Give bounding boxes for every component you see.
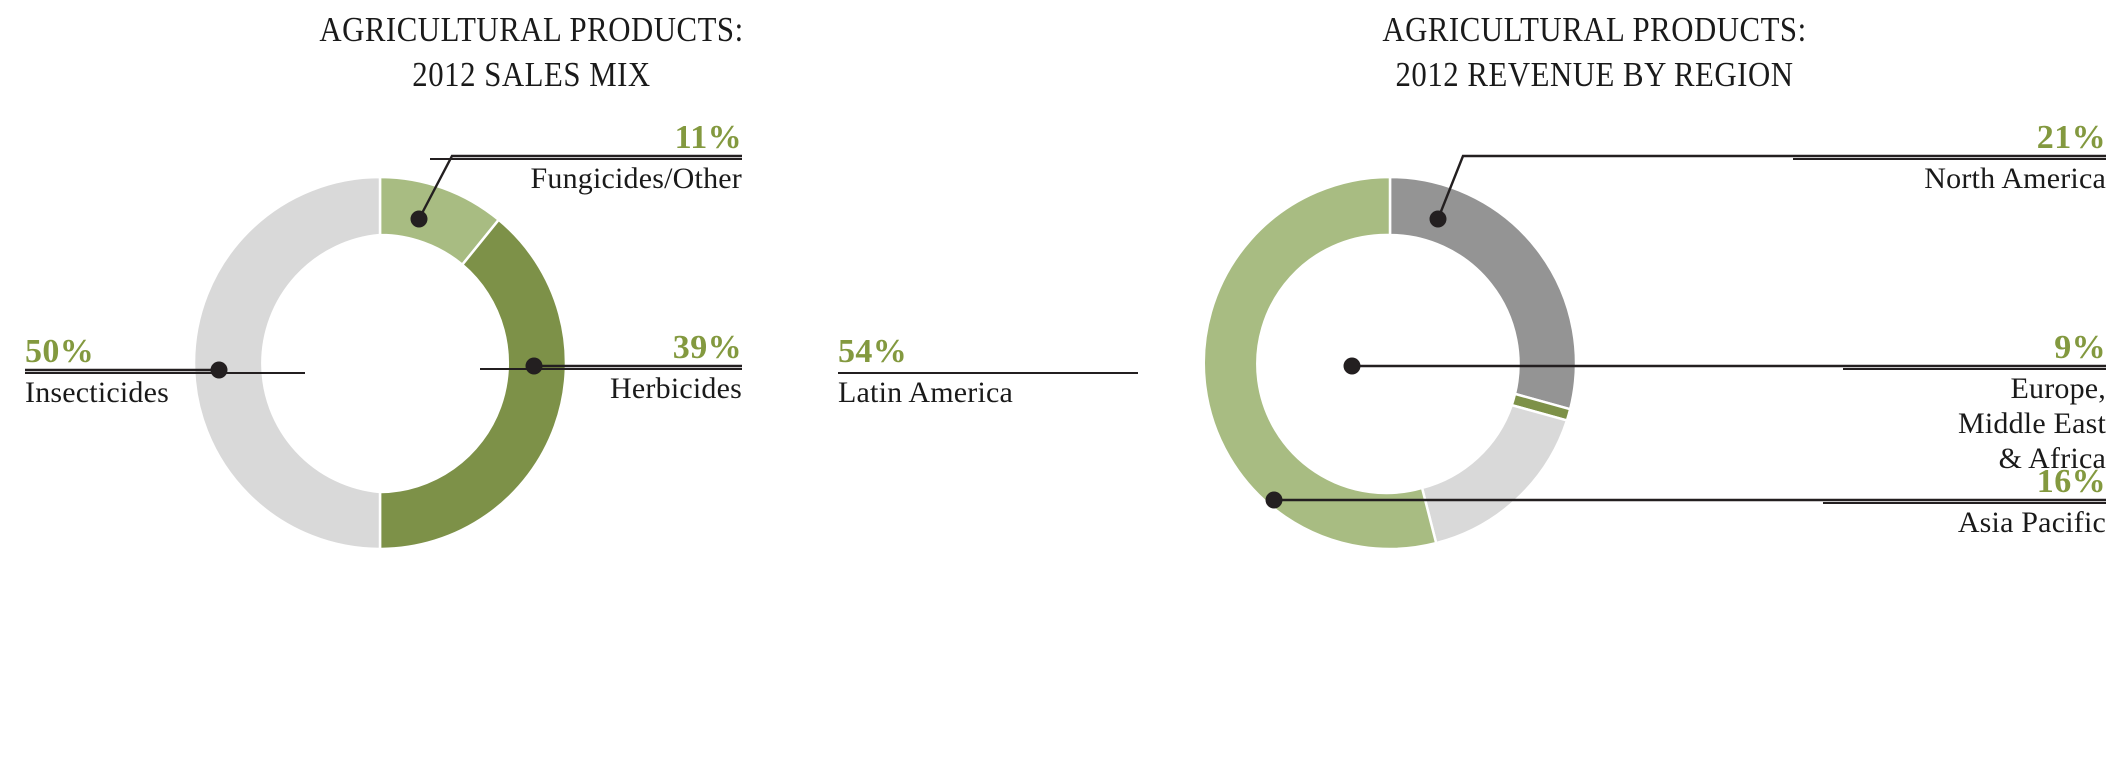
donut-segments-revenue-by-region <box>1204 177 1576 549</box>
callout-rule-asia-pacific <box>1823 502 2106 504</box>
callout-north-america: 21% North America <box>1793 120 2106 196</box>
callout-herbicides: 39% Herbicides <box>480 330 742 406</box>
callout-percent-herbicides: 39% <box>480 330 742 366</box>
leader-dot-fungicides <box>411 211 428 228</box>
chart-title-line-1: AGRICULTURAL PRODUCTS: <box>64 8 999 53</box>
callout-name-insecticides: Insecticides <box>25 375 305 410</box>
callout-name-asia-pacific: Asia Pacific <box>1823 505 2106 540</box>
callout-percent-asia-pacific: 16% <box>1823 464 2106 500</box>
callout-percent-insecticides: 50% <box>25 334 305 370</box>
leader-dot-north-america <box>1430 211 1447 228</box>
callout-insecticides: 50% Insecticides <box>25 334 305 410</box>
chart-title-line-1: AGRICULTURAL PRODUCTS: <box>1127 8 2062 53</box>
callout-latin-america: 54% Latin America <box>838 334 1138 410</box>
callout-percent-latin-america: 54% <box>838 334 1138 370</box>
callout-name-latin-america: Latin America <box>838 375 1138 410</box>
callout-rule-insecticides <box>25 372 305 374</box>
donut-segment-asia-pacific <box>1422 405 1567 543</box>
chart-title-line-2: 2012 REVENUE BY REGION <box>1127 53 2062 98</box>
callout-rule-herbicides <box>480 368 742 370</box>
callout-name-north-america: North America <box>1793 161 2106 196</box>
callout-percent-north-america: 21% <box>1793 120 2106 156</box>
callout-name-emea: Europe, Middle East & Africa <box>1843 371 2106 476</box>
donut-segment-emea <box>1512 394 1570 421</box>
leader-dot-emea <box>1344 358 1361 375</box>
chart-title-revenue-by-region: AGRICULTURAL PRODUCTS: 2012 REVENUE BY R… <box>1127 8 2062 98</box>
callout-rule-latin-america <box>838 372 1138 374</box>
callout-percent-fungicides: 11% <box>430 120 742 156</box>
callout-fungicides: 11% Fungicides/Other <box>430 120 742 196</box>
callout-emea: 9% Europe, Middle East & Africa <box>1843 330 2106 476</box>
callout-name-fungicides: Fungicides/Other <box>430 161 742 196</box>
callout-rule-emea <box>1843 368 2106 370</box>
infographic-page: AGRICULTURAL PRODUCTS: 2012 SALES MIX <box>0 0 2126 776</box>
leader-dot-asia-pacific <box>1266 492 1283 509</box>
callout-percent-emea: 9% <box>1843 330 2106 366</box>
chart-title-line-2: 2012 SALES MIX <box>64 53 999 98</box>
chart-panel-revenue-by-region: AGRICULTURAL PRODUCTS: 2012 REVENUE BY R… <box>1063 0 2126 776</box>
callout-asia-pacific: 16% Asia Pacific <box>1823 464 2106 540</box>
callout-rule-north-america <box>1793 158 2106 160</box>
chart-title-sales-mix: AGRICULTURAL PRODUCTS: 2012 SALES MIX <box>64 8 999 98</box>
callout-name-herbicides: Herbicides <box>480 371 742 406</box>
donut-segment-latin-america <box>1204 177 1436 549</box>
callout-rule-fungicides <box>430 158 742 160</box>
donut-segment-north-america <box>1390 177 1576 409</box>
